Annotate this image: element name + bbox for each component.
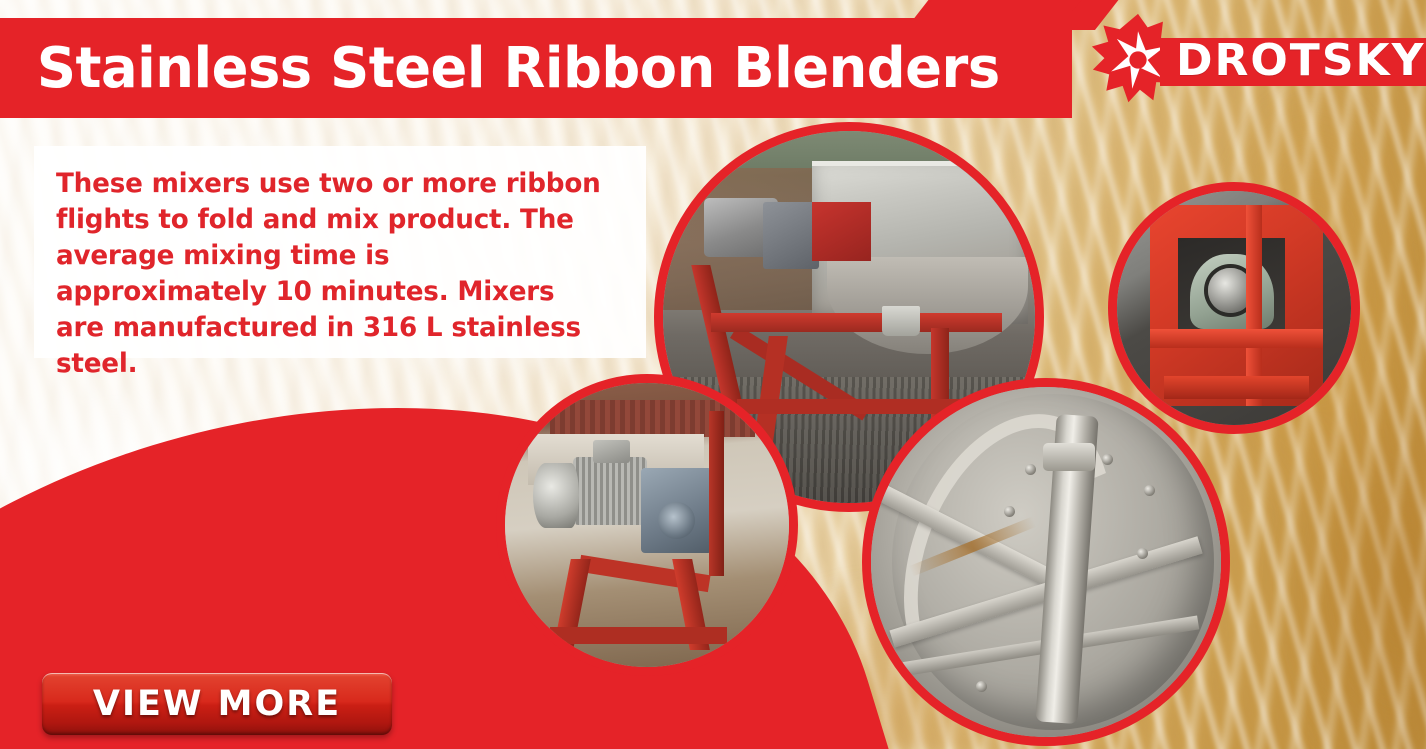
page-title: Stainless Steel Ribbon Blenders (0, 36, 1000, 101)
photo-drive-motor-gearbox[interactable] (496, 374, 798, 676)
description-text: These mixers use two or more ribbon flig… (56, 166, 607, 382)
promo-banner: Stainless Steel Ribbon Blenders DROTSKY … (0, 0, 1426, 749)
top-diagonal-accent-2 (922, 0, 1089, 12)
photo-content (871, 387, 1221, 737)
description-panel: These mixers use two or more ribbon flig… (34, 146, 646, 358)
brand-logo[interactable]: DROTSKY (1090, 8, 1420, 112)
view-more-label: VIEW MORE (93, 684, 341, 724)
title-bar: Stainless Steel Ribbon Blenders (0, 18, 1072, 118)
logo-wordmark: DROTSKY (1176, 36, 1425, 86)
view-more-button[interactable]: VIEW MORE (42, 673, 392, 735)
photo-ribbon-agitator-interior[interactable] (862, 378, 1230, 746)
photo-content (505, 383, 789, 667)
